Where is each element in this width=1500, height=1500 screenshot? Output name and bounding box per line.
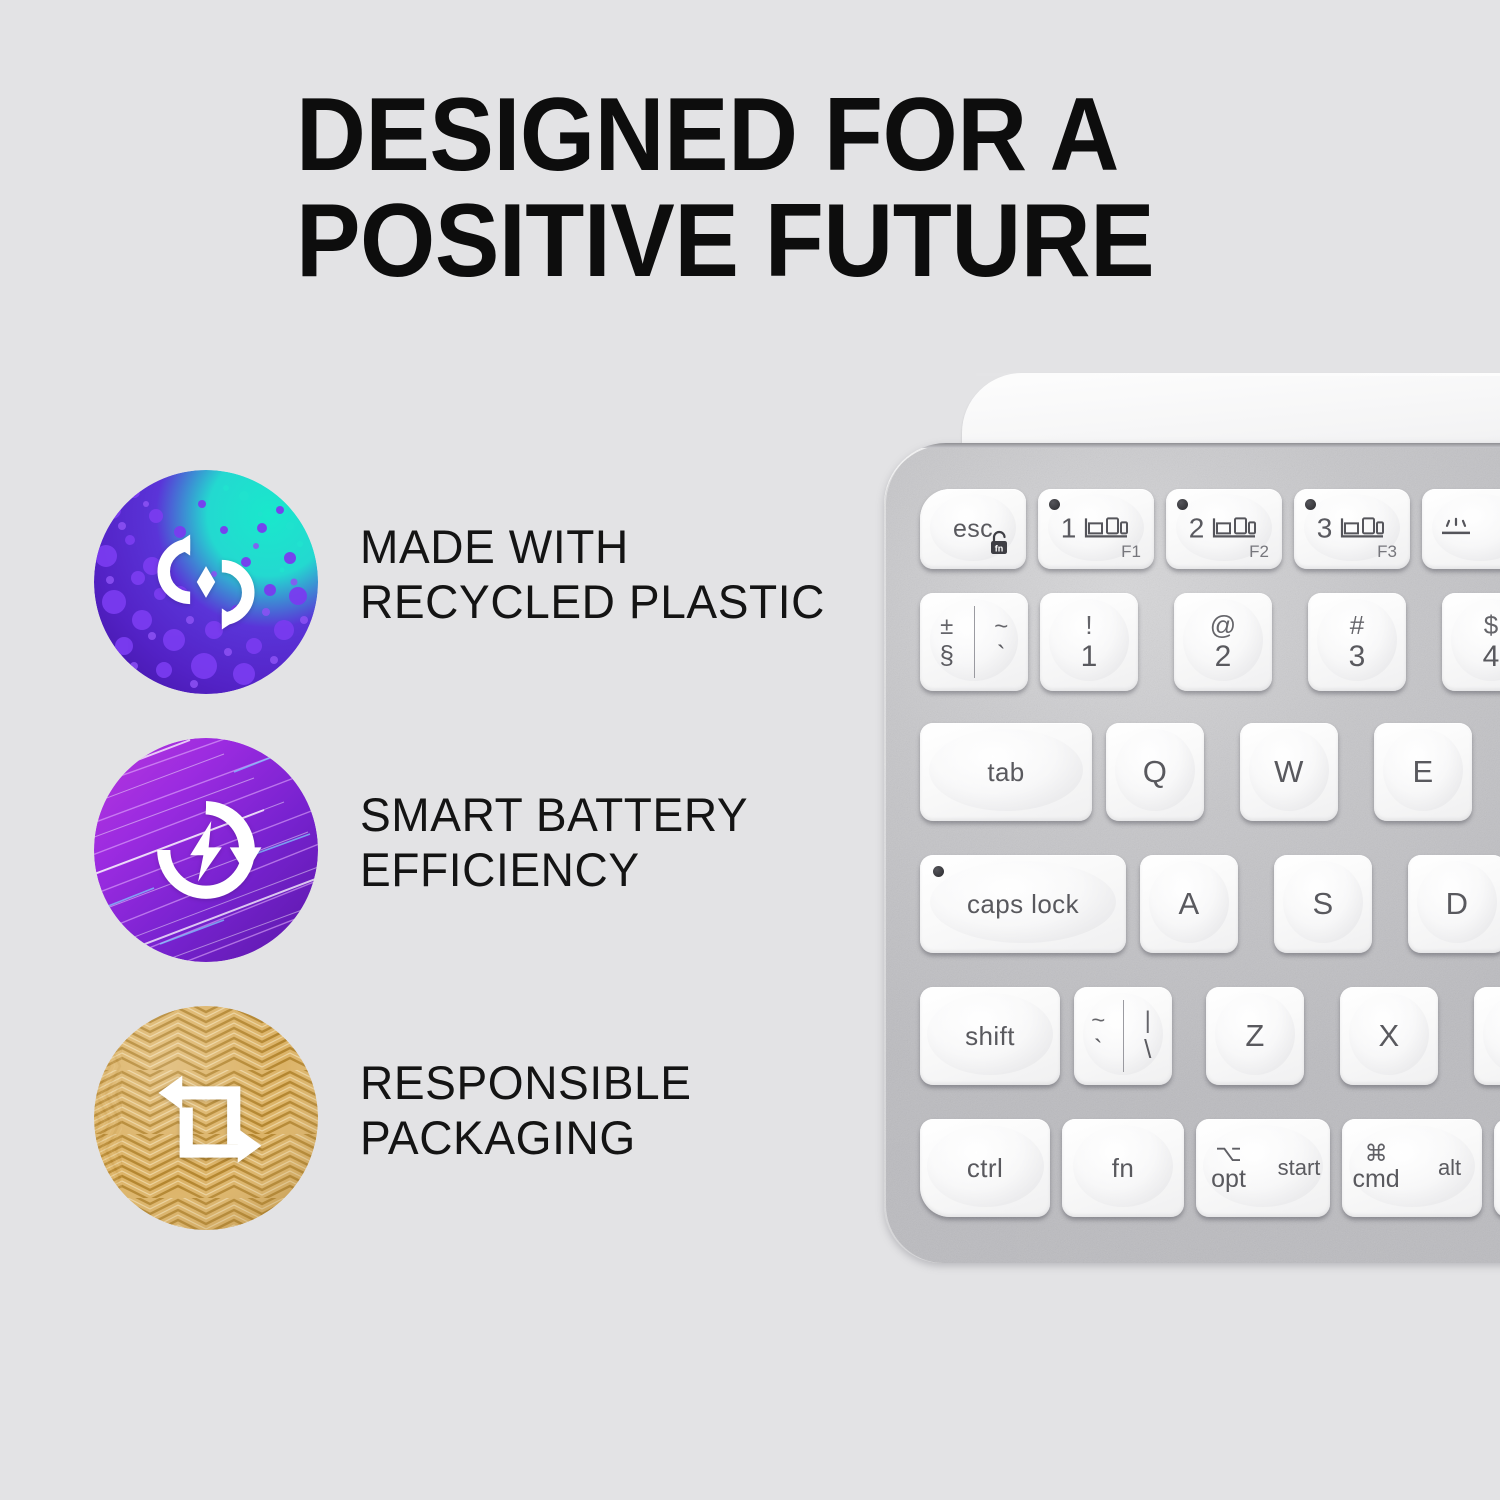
key-z[interactable]: Z	[1206, 987, 1304, 1085]
key-f3[interactable]: 3 F3	[1294, 489, 1410, 569]
key-tab[interactable]: tab	[920, 723, 1092, 821]
key-3[interactable]: # 3	[1308, 593, 1406, 691]
fn-lock-icon: fn	[988, 530, 1010, 561]
key-2[interactable]: @ 2	[1174, 593, 1272, 691]
key-q[interactable]: Q	[1106, 723, 1204, 821]
caps-lock-led-indicator	[933, 866, 944, 877]
key-c[interactable]: C	[1474, 987, 1500, 1085]
key-e[interactable]: E	[1374, 723, 1472, 821]
key-d[interactable]: D	[1408, 855, 1500, 953]
key-esc[interactable]: esc fn	[920, 489, 1026, 569]
svg-text:fn: fn	[995, 543, 1004, 553]
key-backslash[interactable]: ~ ` | \	[1074, 987, 1172, 1085]
key-ctrl[interactable]: ctrl	[920, 1119, 1050, 1217]
key-4[interactable]: $ 4	[1442, 593, 1500, 691]
command-symbol: ⌘	[1365, 1142, 1388, 1165]
f1-led-indicator	[1049, 499, 1060, 510]
backlight-icon	[1436, 513, 1476, 544]
key-caps-lock[interactable]: caps lock	[920, 855, 1126, 953]
option-symbol: ⌥	[1215, 1142, 1242, 1165]
key-shift[interactable]: shift	[920, 987, 1060, 1085]
keyboard-keys: esc fn 1	[884, 443, 1500, 1263]
key-section[interactable]: ± § ~ `	[920, 593, 1028, 691]
key-spacebar-partial[interactable]	[1494, 1119, 1500, 1217]
device-switch-icon	[1211, 514, 1259, 542]
key-fn[interactable]: fn	[1062, 1119, 1184, 1217]
key-f4[interactable]	[1422, 489, 1500, 569]
key-a[interactable]: A	[1140, 855, 1238, 953]
device-switch-icon	[1083, 514, 1131, 542]
key-divider	[1123, 1000, 1124, 1072]
keyboard-product-photo: esc fn 1	[0, 0, 1500, 1500]
key-1[interactable]: ! 1	[1040, 593, 1138, 691]
key-divider	[974, 606, 975, 678]
key-x[interactable]: X	[1340, 987, 1438, 1085]
f3-led-indicator	[1305, 499, 1316, 510]
key-cmd-alt[interactable]: ⌘ cmd alt	[1342, 1119, 1482, 1217]
key-f2[interactable]: 2 F2	[1166, 489, 1282, 569]
f2-led-indicator	[1177, 499, 1188, 510]
key-s[interactable]: S	[1274, 855, 1372, 953]
device-switch-icon	[1339, 514, 1387, 542]
key-opt-start[interactable]: ⌥ opt start	[1196, 1119, 1330, 1217]
key-w[interactable]: W	[1240, 723, 1338, 821]
key-f1[interactable]: 1 F1	[1038, 489, 1154, 569]
product-marketing-image: DESIGNED FOR A POSITIVE FUTURE	[0, 0, 1500, 1500]
